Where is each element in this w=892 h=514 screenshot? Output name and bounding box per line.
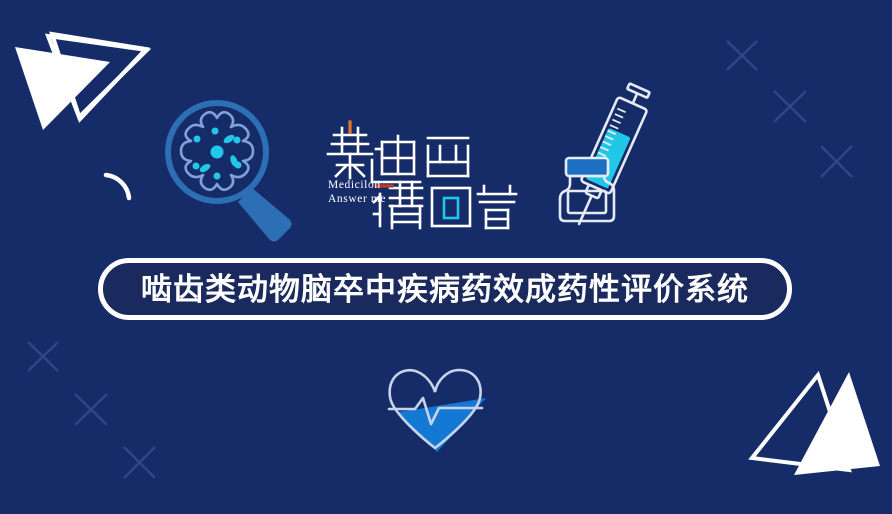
logo-char-mei xyxy=(328,128,372,178)
pulse-wedge xyxy=(400,398,486,452)
logo-char-xi xyxy=(428,138,468,176)
banner-root: Medicilon Answer me 啮齿类动物脑卒中疾病药效成药性评价系统 xyxy=(0,0,892,514)
title-pill: 啮齿类动物脑卒中疾病药效成药性评价系统 xyxy=(98,258,792,320)
logo-english-text: Medicilon Answer me xyxy=(328,178,386,206)
logo-brand-en: Medicilon xyxy=(328,178,386,192)
logo-char-da xyxy=(478,186,516,228)
page-title: 啮齿类动物脑卒中疾病药效成药性评价系统 xyxy=(141,274,749,305)
heart-pulse-icon xyxy=(0,0,892,514)
logo-block: Medicilon Answer me xyxy=(320,118,520,230)
logo-char-hui xyxy=(432,188,470,226)
logo-tagline-en: Answer me xyxy=(328,192,386,206)
logo-graphic xyxy=(320,118,520,230)
logo-char-di xyxy=(372,136,420,182)
